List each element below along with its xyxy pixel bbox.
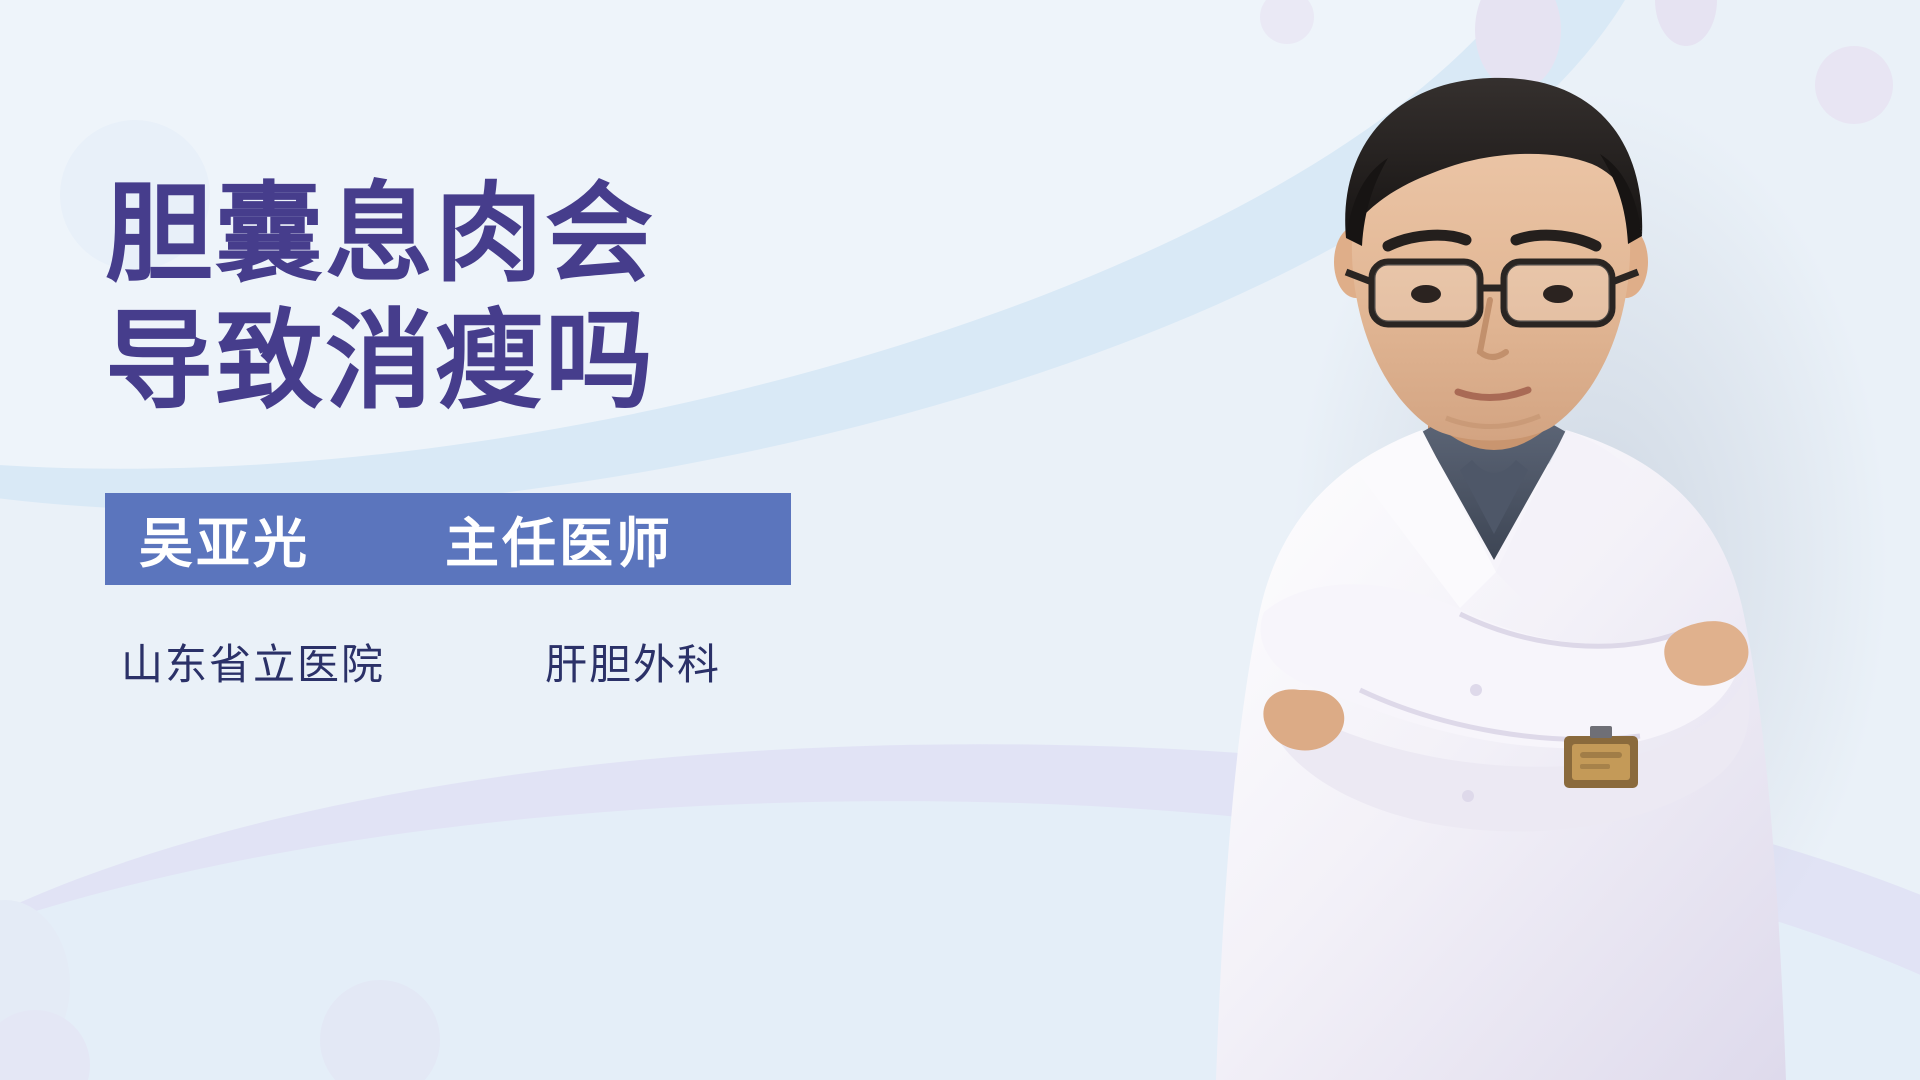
doctor-affiliation: 山东省立医院 肝胆外科 — [105, 631, 805, 692]
hospital-name: 山东省立医院 — [121, 631, 385, 692]
doctor-name: 吴亚光 — [139, 499, 310, 578]
doctor-rank: 主任医师 — [445, 499, 673, 578]
title-line-1: 胆囊息肉会 — [105, 170, 985, 297]
video-thumbnail-card: 胆囊息肉会 导致消瘦吗 吴亚光 主任医师 山东省立医院 肝胆外科 — [0, 0, 1920, 1080]
department-name: 肝胆外科 — [545, 631, 721, 692]
page-title: 胆囊息肉会 导致消瘦吗 — [105, 170, 985, 425]
doctor-credential-badge: 吴亚光 主任医师 — [105, 493, 791, 585]
text-content: 胆囊息肉会 导致消瘦吗 吴亚光 主任医师 山东省立医院 肝胆外科 — [105, 170, 985, 692]
doctor-portrait — [1160, 0, 1920, 1080]
title-line-2: 导致消瘦吗 — [105, 297, 985, 424]
